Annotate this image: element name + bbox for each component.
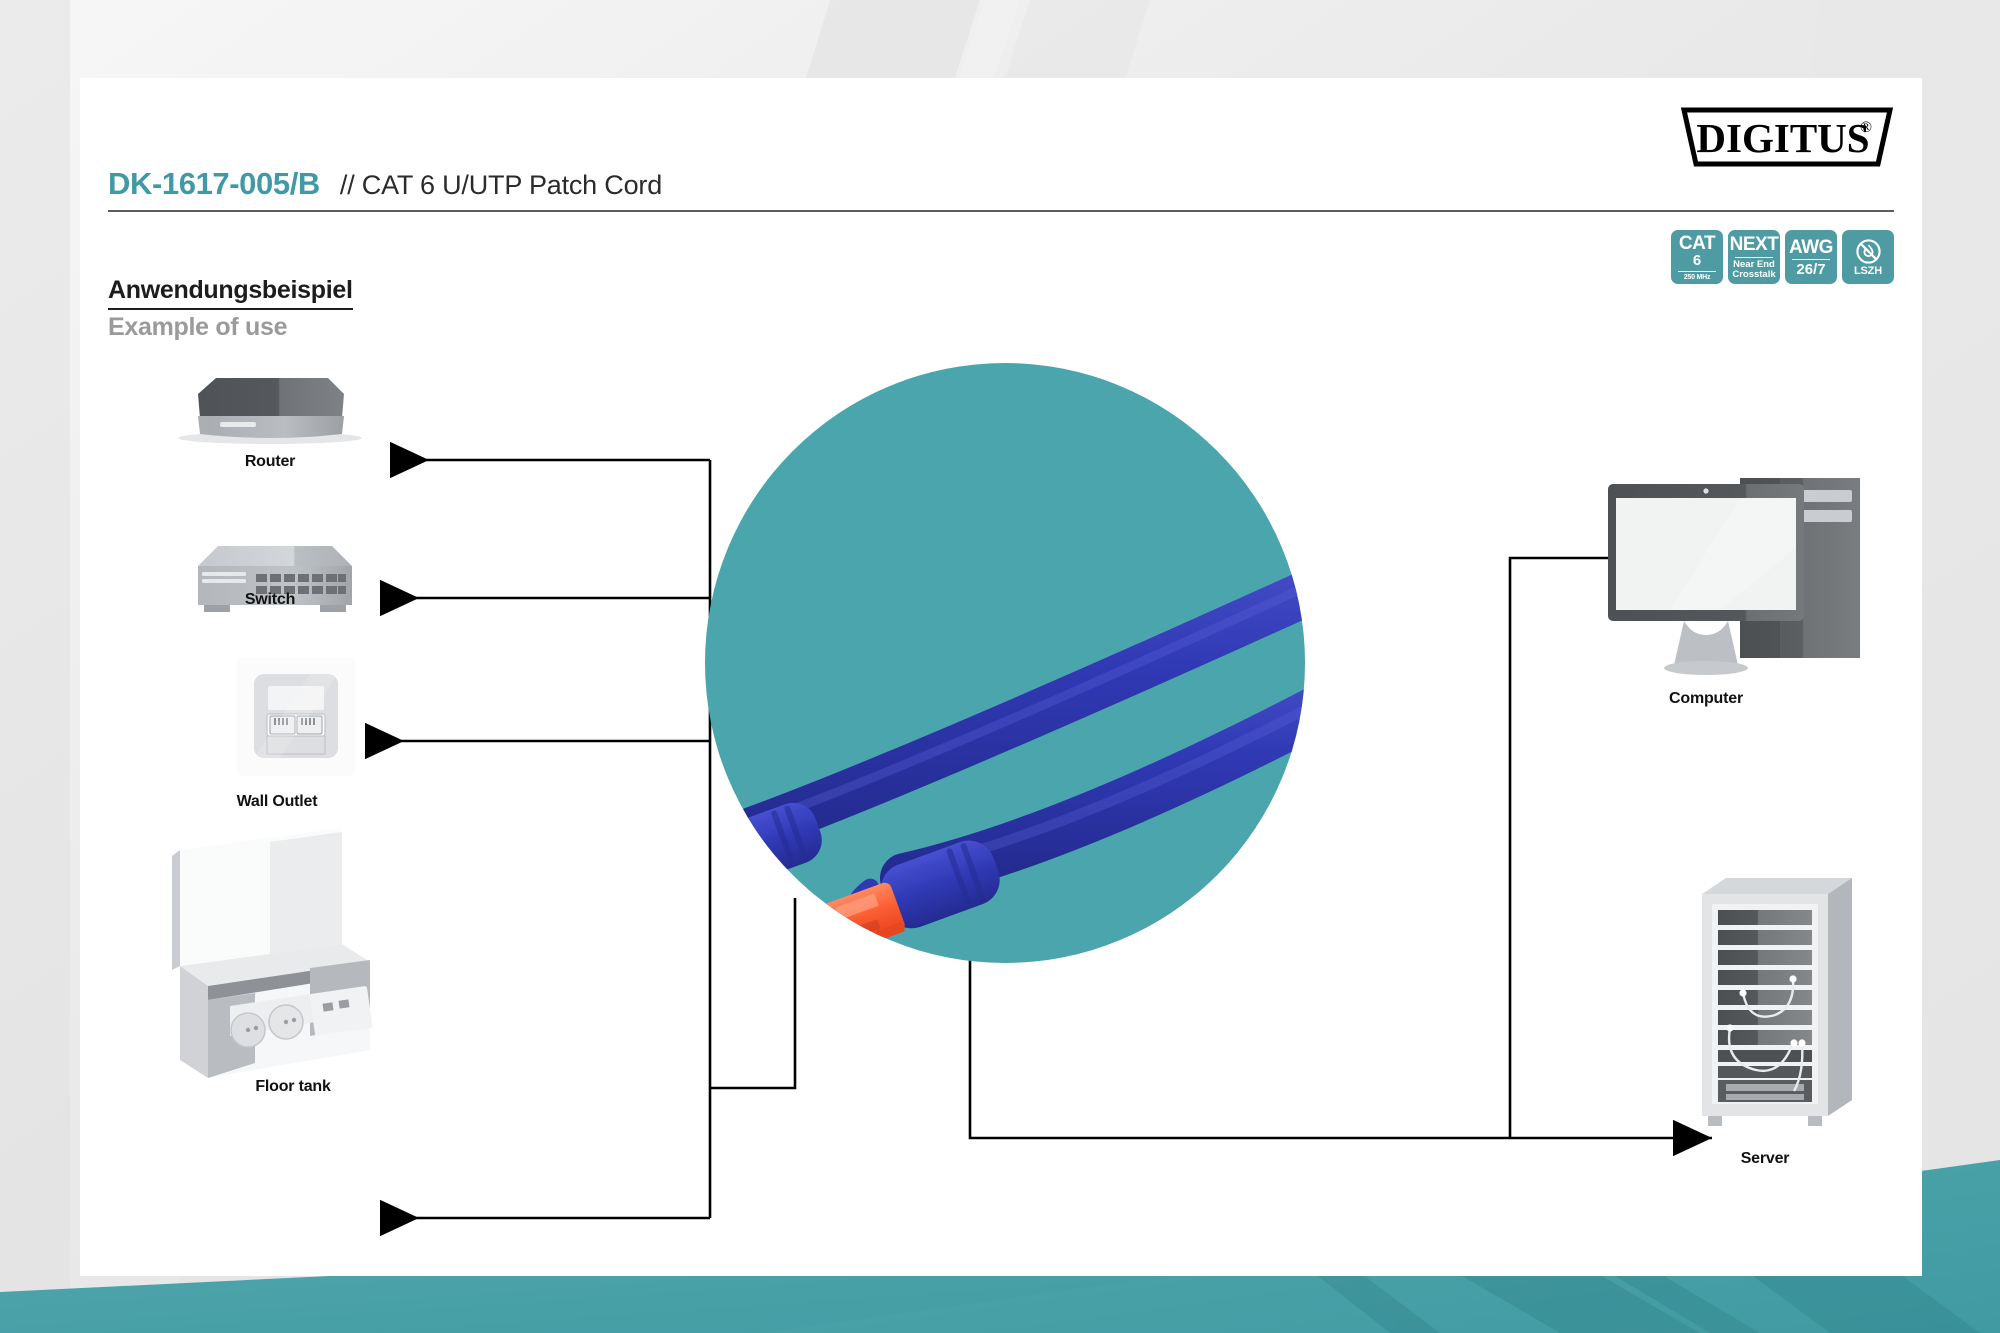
line-to-computer [1510, 558, 1648, 1138]
computer-illustration [1608, 478, 1860, 675]
label-wall-outlet: Wall Outlet [237, 793, 318, 811]
label-switch: Switch [245, 591, 295, 609]
wall-outlet-illustration [237, 658, 355, 776]
label-server: Server [1741, 1150, 1790, 1168]
label-floor-tank: Floor tank [255, 1078, 330, 1096]
application-diagram: Router Switch Wall Outlet Floor tank Com… [80, 78, 1922, 1276]
line-from-left-plug [710, 898, 795, 1088]
server-illustration [1702, 878, 1852, 1126]
label-router: Router [245, 453, 295, 471]
content-card: DIGITUS ® DK-1617-005/B // CAT 6 U/UTP P… [80, 78, 1922, 1276]
floor-tank-illustration [172, 828, 373, 1078]
monitor-stand [1674, 621, 1738, 665]
label-computer: Computer [1669, 690, 1743, 708]
router-illustration [178, 378, 362, 444]
product-hero [601, 363, 1360, 975]
